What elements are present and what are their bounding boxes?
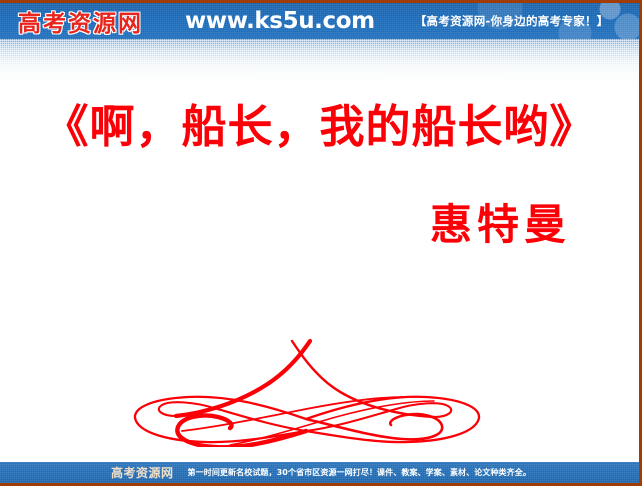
- site-header-banner: 高考资源网 www.ks5u.com 【高考资源网-你身边的高考专家！】: [0, 3, 642, 39]
- presentation-slide: 高考资源网 www.ks5u.com 【高考资源网-你身边的高考专家！】 《啊，…: [0, 0, 642, 486]
- calligraphic-flourish-icon: [96, 327, 516, 447]
- site-url-text[interactable]: www.ks5u.com: [185, 8, 375, 34]
- footer-note-text: 第一时间更新名校试题，30个省市区资源一网打尽！课件、教案、学案、素材、论文种类…: [188, 467, 531, 478]
- poem-author: 惠特曼: [0, 191, 639, 252]
- site-tagline: 【高考资源网-你身边的高考专家！】: [415, 13, 609, 29]
- slide-content-area: 《啊，船长，我的船长哟》 惠特曼: [0, 39, 642, 468]
- site-logo-chinese: 高考资源网: [18, 4, 143, 38]
- poem-title: 《啊，船长，我的船长哟》: [0, 101, 639, 153]
- site-footer-banner: 高考资源网 第一时间更新名校试题，30个省市区资源一网打尽！课件、教案、学案、素…: [0, 462, 642, 483]
- footer-logo-text: 高考资源网: [111, 464, 174, 481]
